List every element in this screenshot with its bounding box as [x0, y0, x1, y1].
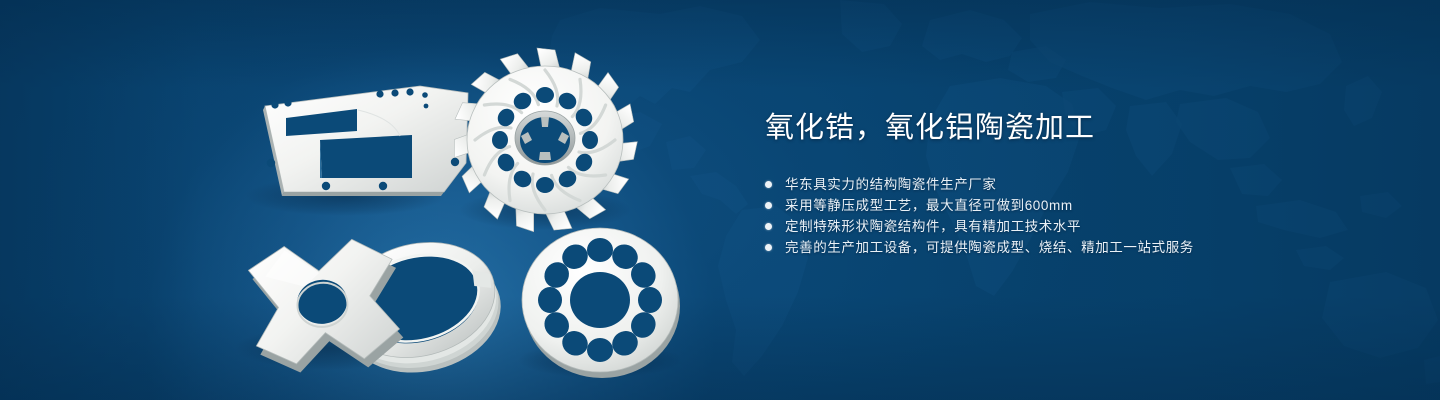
bullet-dot-icon: [765, 223, 772, 230]
bullet-dot-icon: [765, 202, 772, 209]
list-item: 定制特殊形状陶瓷结构件，具有精加工技术水平: [765, 216, 1405, 237]
list-item: 完善的生产加工设备，可提供陶瓷成型、烧结、精加工一站式服务: [765, 237, 1405, 258]
list-item: 采用等静压成型工艺，最大直径可做到600mm: [765, 195, 1405, 216]
product-showcase: [0, 0, 760, 400]
ceramic-parts-illustration: [0, 0, 760, 400]
feature-text: 定制特殊形状陶瓷结构件，具有精加工技术水平: [785, 216, 1081, 237]
banner-headline: 氧化锆，氧化铝陶瓷加工: [765, 108, 1405, 148]
feature-text: 采用等静压成型工艺，最大直径可做到600mm: [785, 195, 1073, 216]
feature-list: 华东具实力的结构陶瓷件生产厂家 采用等静压成型工艺，最大直径可做到600mm 定…: [765, 174, 1405, 258]
ceramic-perforated-disc: [522, 228, 680, 378]
bullet-dot-icon: [765, 181, 772, 188]
hero-banner: 氧化锆，氧化铝陶瓷加工 华东具实力的结构陶瓷件生产厂家 采用等静压成型工艺，最大…: [0, 0, 1440, 400]
bullet-dot-icon: [765, 244, 772, 251]
list-item: 华东具实力的结构陶瓷件生产厂家: [765, 174, 1405, 195]
feature-text: 华东具实力的结构陶瓷件生产厂家: [785, 174, 997, 195]
feature-text: 完善的生产加工设备，可提供陶瓷成型、烧结、精加工一站式服务: [785, 237, 1194, 258]
ceramic-machined-plate: [263, 86, 468, 196]
banner-copy: 氧化锆，氧化铝陶瓷加工 华东具实力的结构陶瓷件生产厂家 采用等静压成型工艺，最大…: [765, 108, 1405, 258]
